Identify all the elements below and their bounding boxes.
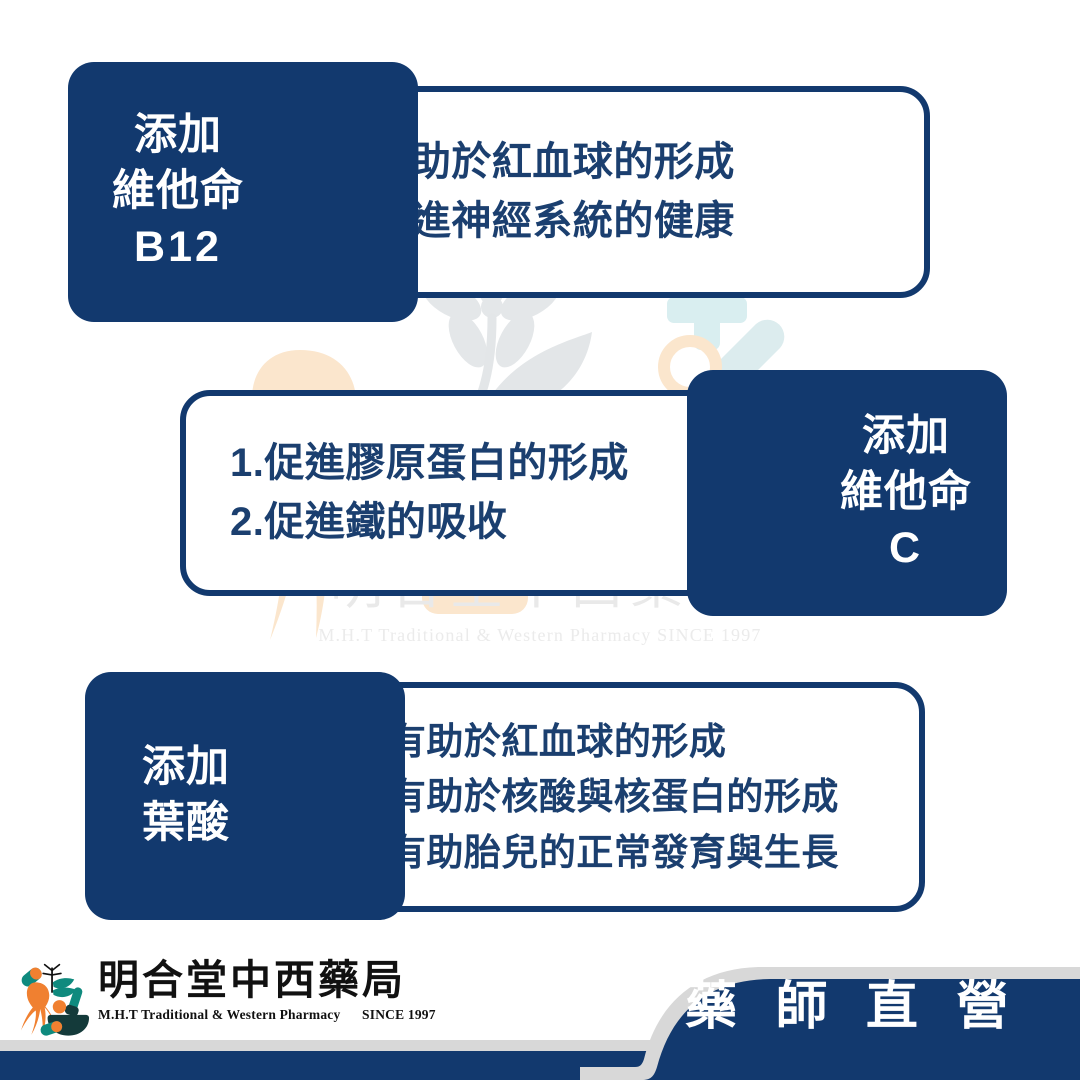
card-folic-acid-items: 1.有助於紅血球的形成 2.有助於核酸與核蛋白的形成 3.有助胎兒的正常發育與生… xyxy=(357,714,919,881)
card-vitamin-b12: 1.有助於紅血球的形成 2.增進神經系統的健康 添加 維他命 B12 xyxy=(68,62,930,322)
list-item: 3.有助胎兒的正常發育與生長 xyxy=(357,825,919,881)
card-folic-acid: 1.有助於紅血球的形成 2.有助於核酸與核蛋白的形成 3.有助胎兒的正常發育與生… xyxy=(85,672,925,920)
list-item: 2.增進神經系統的健康 xyxy=(336,192,924,251)
card-vitamin-c-label-text: 添加 維他命 C xyxy=(840,409,972,577)
label-line: 添加 xyxy=(112,108,244,164)
list-item: 2.有助於核酸與核蛋白的形成 xyxy=(357,769,919,825)
label-line: C xyxy=(840,521,972,577)
list-item: 1.有助於紅血球的形成 xyxy=(357,714,919,770)
brand-name-chinese: 明合堂中西藥局 xyxy=(98,958,436,1002)
brand-tagline: M.H.T Traditional & Western Pharmacy xyxy=(98,1007,340,1022)
label-line: 添加 xyxy=(142,740,230,796)
label-line: 維他命 xyxy=(112,164,244,220)
watermark-english-text: M.H.T Traditional & Western Pharmacy xyxy=(318,625,651,645)
label-line: 維他命 xyxy=(840,465,972,521)
label-line: B12 xyxy=(112,220,244,276)
watermark-since: SINCE 1997 xyxy=(657,625,762,645)
brand-logo-text: 明合堂中西藥局 M.H.T Traditional & Western Phar… xyxy=(98,958,436,1023)
footer: 明合堂中西藥局 M.H.T Traditional & Western Phar… xyxy=(0,940,1080,1080)
card-vitamin-b12-items: 1.有助於紅血球的形成 2.增進神經系統的健康 xyxy=(336,133,924,251)
brand-logo: 明合堂中西藥局 M.H.T Traditional & Western Phar… xyxy=(18,958,436,1038)
label-line: 添加 xyxy=(840,409,972,465)
banner-label: 藥 師 直 營 xyxy=(685,981,1020,1033)
watermark-english: M.H.T Traditional & Western Pharmacy SIN… xyxy=(0,625,1080,646)
card-vitamin-c: 1.促進膠原蛋白的形成 2.促進鐵的吸收 添加 維他命 C xyxy=(180,370,1007,616)
brand-name-english: M.H.T Traditional & Western Pharmacy SIN… xyxy=(98,1007,436,1023)
list-item: 1.有助於紅血球的形成 xyxy=(336,133,924,192)
label-line: 葉酸 xyxy=(142,796,230,852)
card-folic-acid-label: 添加 葉酸 xyxy=(85,672,405,920)
pharmacy-logo-icon xyxy=(18,960,92,1038)
brand-since: SINCE 1997 xyxy=(362,1007,436,1022)
card-vitamin-b12-label: 添加 維他命 B12 xyxy=(68,62,418,322)
card-folic-acid-label-text: 添加 葉酸 xyxy=(142,740,230,852)
card-vitamin-b12-label-text: 添加 維他命 B12 xyxy=(112,108,244,276)
pharmacist-operated-banner: 藥 師 直 營 xyxy=(580,955,1080,1080)
infographic-canvas: 一明合堂中西藥局一 M.H.T Traditional & Western Ph… xyxy=(0,0,1080,1080)
card-vitamin-c-label: 添加 維他命 C xyxy=(687,370,1007,616)
